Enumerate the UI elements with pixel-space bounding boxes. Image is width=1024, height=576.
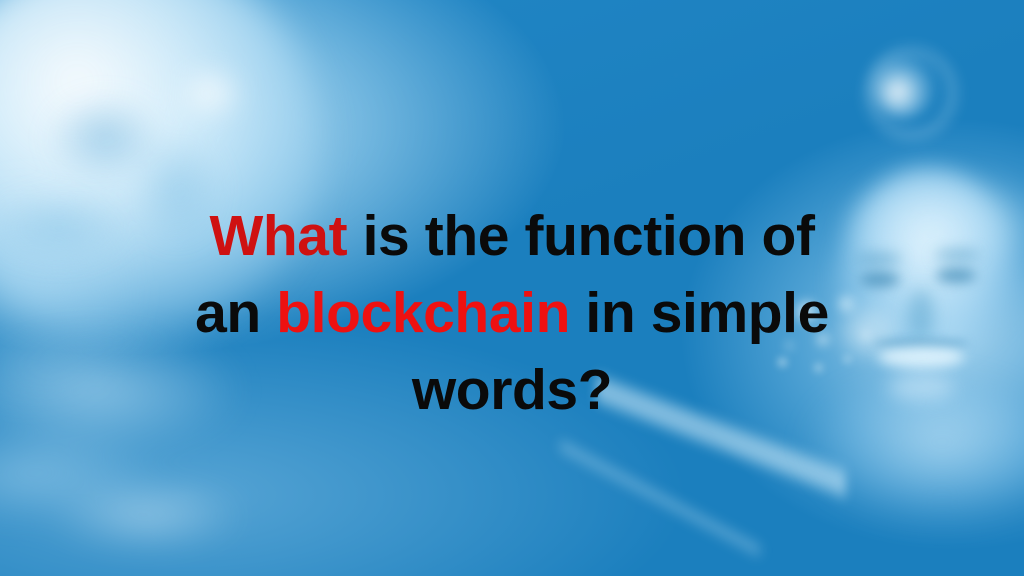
headline-line-1: What is the function of [0,198,1024,275]
headline-line-3-text: words? [412,358,612,422]
headline-line-1-rest: is the function of [347,204,814,268]
headline-line-3: words? [0,352,1024,429]
headline-line-2-rest: in simple [570,281,829,345]
headline-accent-what: What [209,204,347,268]
headline-text: What is the function of an blockchain in… [0,198,1024,429]
headline-line-2-lead: an [195,281,276,345]
glow-orb-ring [866,48,956,138]
headline-line-2: an blockchain in simple [0,275,1024,352]
wispy-streak-shape-2 [560,420,760,576]
headline-accent-blockchain: blockchain [276,281,570,345]
glow-orb-icon [872,56,934,118]
slide-canvas: What is the function of an blockchain in… [0,0,1024,576]
